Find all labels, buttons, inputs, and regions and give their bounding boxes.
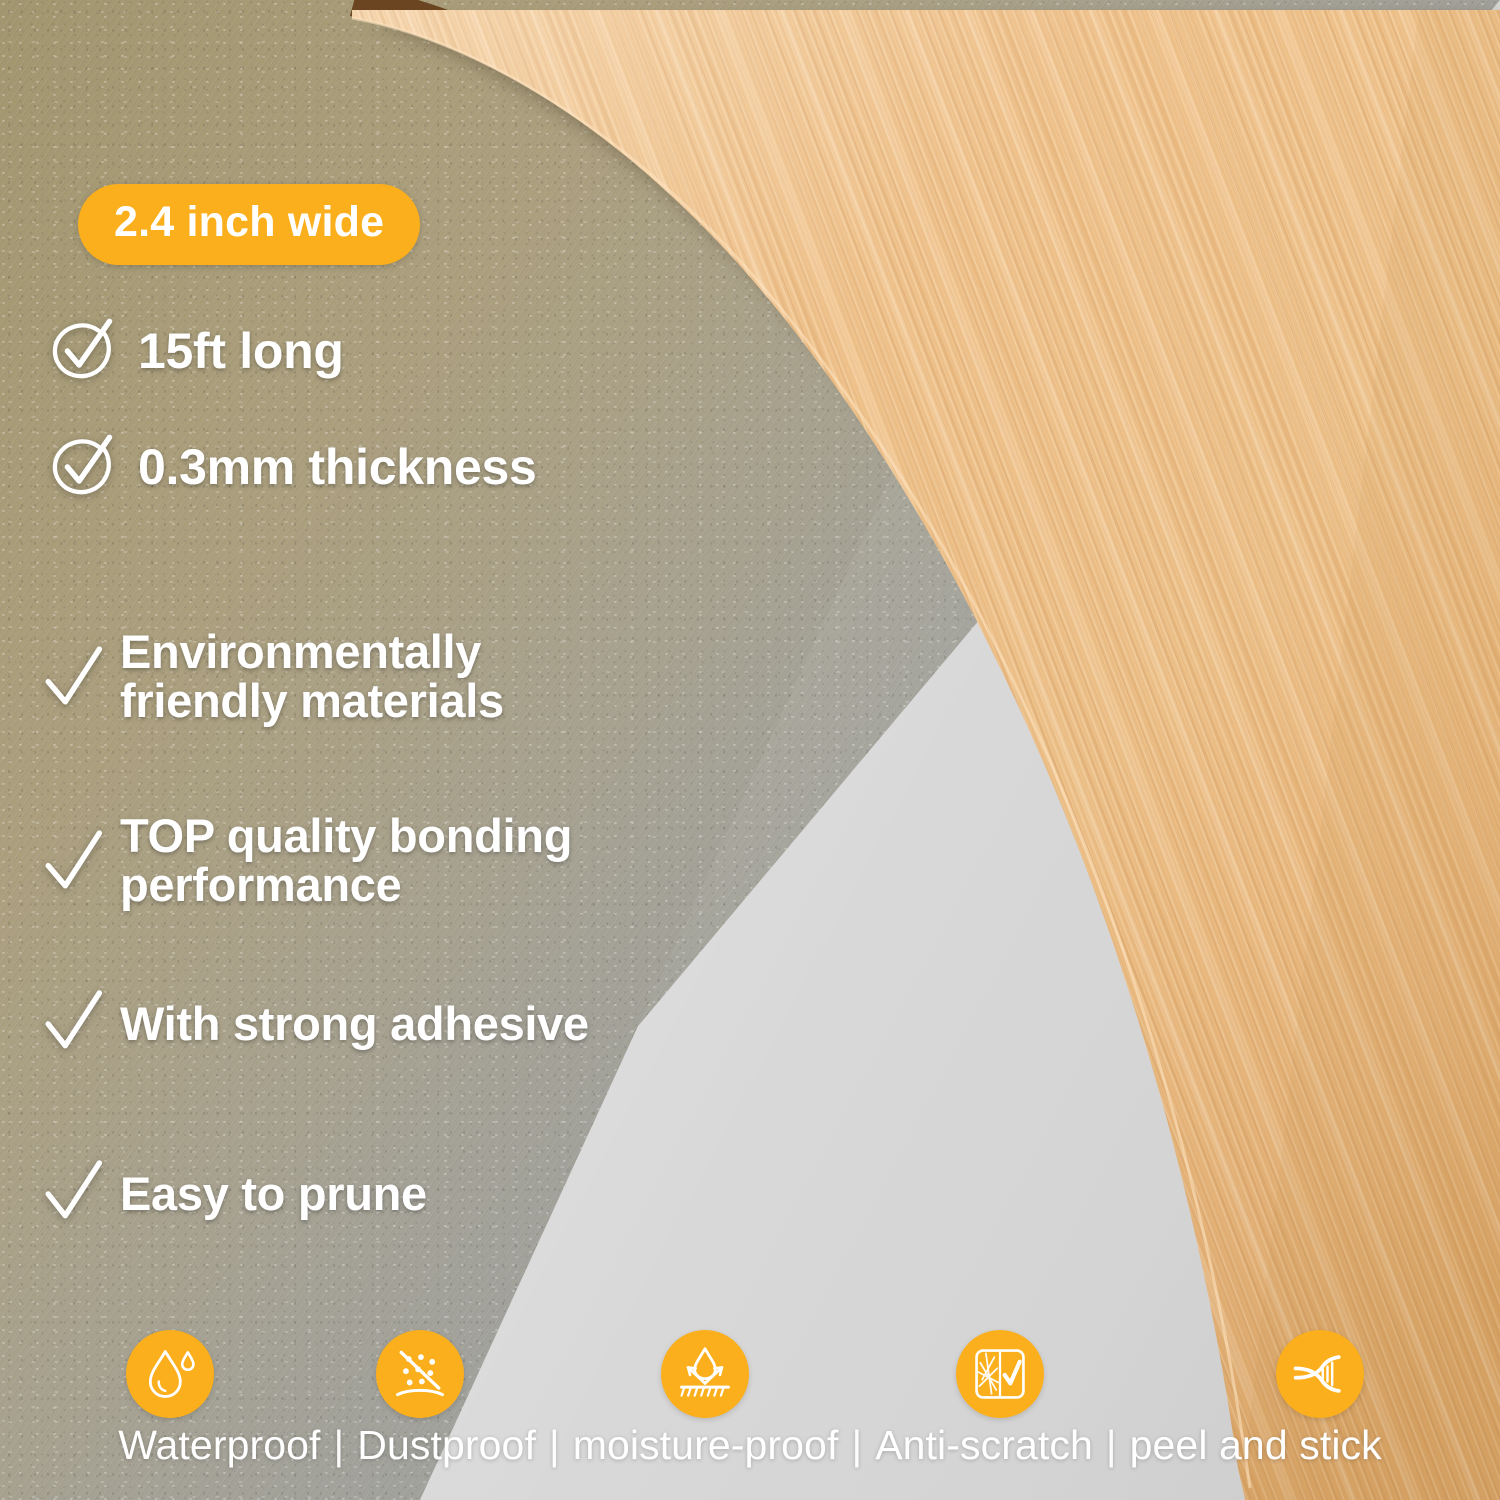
- benefit-icon-peel-and-stick: [1276, 1330, 1364, 1418]
- benefit-caption-row: Waterproof | Dustproof | moisture-proof …: [0, 1422, 1500, 1469]
- feature-label: With strong adhesive: [120, 1000, 589, 1049]
- check-icon: [42, 1155, 104, 1233]
- benefit-icon-dustproof: [376, 1330, 464, 1418]
- benefit-label-moisture-proof: moisture-proof: [573, 1422, 839, 1469]
- benefit-label-peel-and-stick: peel and stick: [1130, 1422, 1382, 1469]
- benefit-icon-waterproof: [126, 1330, 214, 1418]
- feature-label: 0.3mm thickness: [138, 441, 536, 493]
- circled-check-icon: [44, 428, 122, 506]
- width-badge: 2.4 inch wide: [78, 184, 420, 265]
- feature-label: TOP quality bonding performance: [120, 812, 572, 910]
- caption-separator: |: [1093, 1422, 1130, 1469]
- check-icon: [42, 638, 104, 716]
- moisture-proof-icon: [675, 1344, 735, 1404]
- benefit-icon-anti-scratch: [956, 1330, 1044, 1418]
- feature-item: Easy to prune: [42, 1155, 427, 1233]
- feature-item: TOP quality bonding performance: [42, 812, 572, 910]
- product-feature-image: 2.4 inch wide 15ft long 0.3mm thickness …: [0, 0, 1500, 1500]
- benefit-label-anti-scratch: Anti-scratch: [875, 1422, 1093, 1469]
- benefit-icon-moisture-proof: [661, 1330, 749, 1418]
- benefit-label-dustproof: Dustproof: [357, 1422, 536, 1469]
- feature-item: Environmentally friendly materials: [42, 628, 504, 726]
- feature-label: 15ft long: [138, 325, 344, 377]
- caption-separator: |: [536, 1422, 573, 1469]
- feature-item: 15ft long: [44, 312, 344, 390]
- peel-stick-icon: [1290, 1344, 1350, 1404]
- benefit-icon-row: [0, 1330, 1500, 1422]
- feature-label: Easy to prune: [120, 1170, 427, 1219]
- dust-blocked-icon: [390, 1344, 450, 1404]
- feature-label: Environmentally friendly materials: [120, 628, 504, 726]
- caption-separator: |: [838, 1422, 875, 1469]
- feature-item: With strong adhesive: [42, 985, 589, 1063]
- scratch-check-icon: [970, 1344, 1030, 1404]
- circled-check-icon: [44, 312, 122, 390]
- check-icon: [42, 985, 104, 1063]
- check-icon: [42, 822, 104, 900]
- water-drop-icon: [140, 1344, 200, 1404]
- caption-separator: |: [321, 1422, 358, 1469]
- feature-item: 0.3mm thickness: [44, 428, 536, 506]
- benefit-label-waterproof: Waterproof: [118, 1422, 320, 1469]
